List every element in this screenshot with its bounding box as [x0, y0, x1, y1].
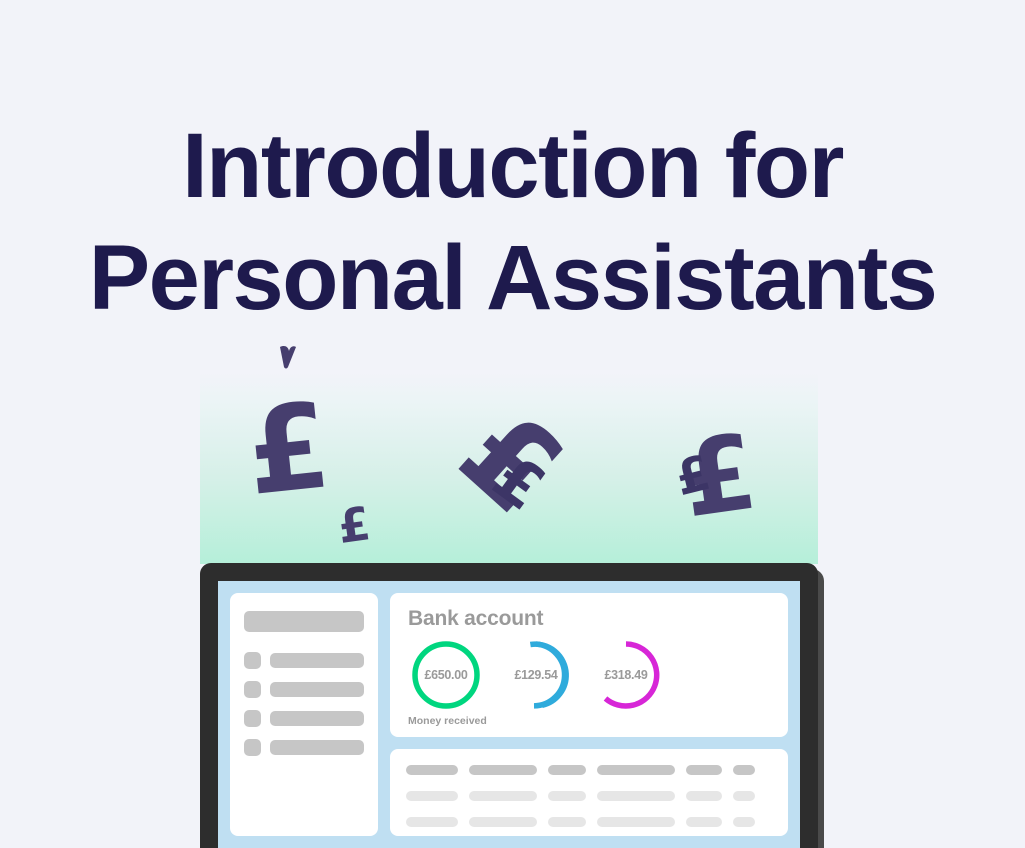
table-cell: [686, 817, 722, 827]
sidebar-item-2[interactable]: [244, 681, 364, 698]
table-cell: [686, 791, 722, 801]
page-title-line-1: Introduction for: [0, 110, 1025, 222]
table-cell: [548, 817, 586, 827]
table-header-cell: [733, 765, 755, 775]
table-header-row: [406, 765, 772, 775]
pound-symbol-large-right: £: [676, 419, 762, 532]
sidebar-item-label: [270, 682, 364, 697]
app-main-column: Bank account £650.00: [390, 593, 788, 836]
sidebar-item-label: [270, 653, 364, 668]
sidebar-title-placeholder: [244, 611, 364, 632]
table-header-cell: [686, 765, 722, 775]
sidebar-item-3[interactable]: [244, 710, 364, 727]
donut-value-3: £318.49: [588, 637, 664, 713]
table-cell: [733, 817, 755, 827]
bank-metrics-row: £650.00 £129.54: [408, 637, 770, 713]
donut-value-2: £129.54: [498, 637, 574, 713]
sidebar-item-label: [270, 740, 364, 755]
bank-account-title: Bank account: [408, 607, 770, 631]
table-cell: [469, 817, 537, 827]
pound-symbol-large-center: £: [441, 390, 581, 533]
pound-symbol-medium-center: £: [483, 445, 554, 521]
laptop-frame: [200, 563, 818, 848]
sidebar-item-4[interactable]: [244, 739, 364, 756]
sidebar-item-icon: [244, 652, 261, 669]
transactions-table-card: [390, 749, 788, 836]
pound-symbol-small-left: £: [335, 500, 373, 550]
donut-chart-money-received: £650.00: [408, 637, 484, 713]
gradient-backdrop: [200, 372, 818, 564]
table-row[interactable]: [406, 791, 772, 801]
table-header-cell: [597, 765, 675, 775]
money-received-caption: Money received: [408, 715, 770, 727]
bank-account-card: Bank account £650.00: [390, 593, 788, 737]
donut-value-1: £650.00: [408, 637, 484, 713]
page-title: Introduction for Personal Assistants: [0, 110, 1025, 334]
sidebar-item-icon: [244, 681, 261, 698]
bird-v-icon: [277, 344, 315, 370]
table-header-cell: [548, 765, 586, 775]
pound-symbol-large-left: £: [241, 386, 335, 512]
table-cell: [469, 791, 537, 801]
table-cell: [597, 791, 675, 801]
sidebar-item-label: [270, 711, 364, 726]
table-header-cell: [406, 765, 458, 775]
donut-chart-third: £318.49: [588, 637, 664, 713]
table-cell: [733, 791, 755, 801]
donut-chart-second: £129.54: [498, 637, 574, 713]
app-sidebar: [230, 593, 378, 836]
table-cell: [406, 817, 458, 827]
page-title-line-2: Personal Assistants: [0, 222, 1025, 334]
sidebar-item-1[interactable]: [244, 652, 364, 669]
table-row[interactable]: [406, 817, 772, 827]
pound-symbol-medium-right: £: [671, 449, 715, 504]
table-header-cell: [469, 765, 537, 775]
sidebar-item-icon: [244, 739, 261, 756]
table-cell: [548, 791, 586, 801]
table-cell: [406, 791, 458, 801]
sidebar-item-icon: [244, 710, 261, 727]
table-cell: [597, 817, 675, 827]
laptop-shadow: [206, 569, 824, 848]
laptop-screen: Bank account £650.00: [218, 581, 800, 848]
